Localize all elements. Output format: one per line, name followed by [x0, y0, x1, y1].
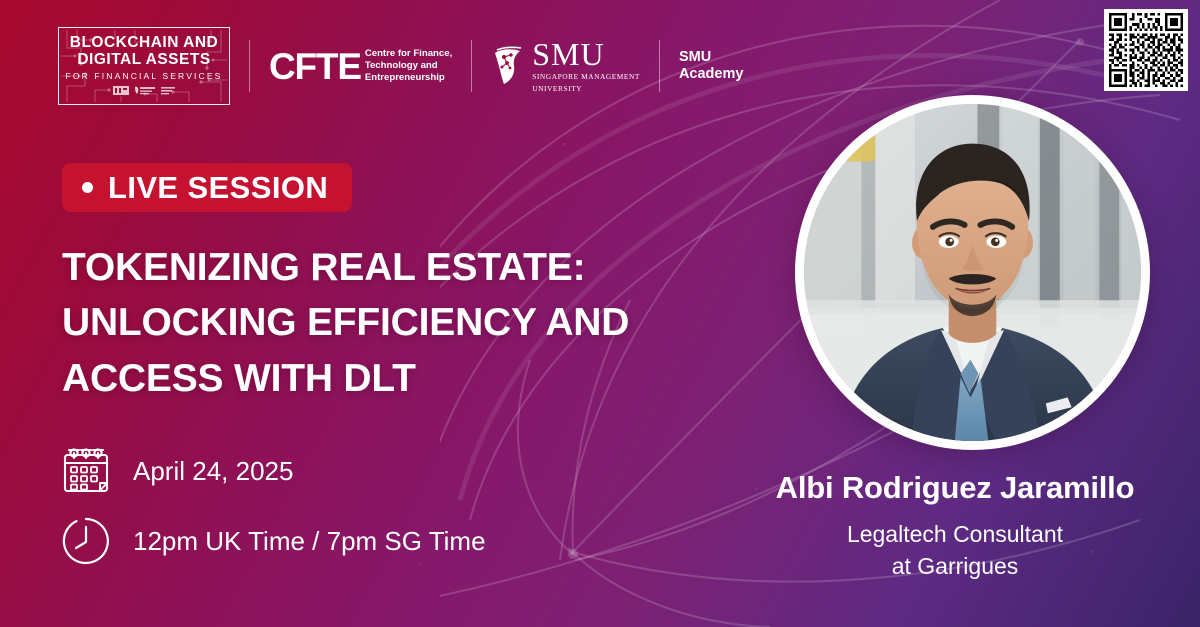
smu-subtitle-line2: UNIVERSITY [532, 84, 640, 93]
smu-crest-icon [491, 46, 525, 86]
qr-code[interactable] [1104, 9, 1188, 91]
live-session-label: LIVE SESSION [108, 172, 328, 203]
live-dot-icon [82, 182, 93, 193]
cfte-tagline-line3: Entrepreneurship [365, 72, 452, 84]
webinar-promo-banner: BLOCKCHAIN AND DIGITAL ASSETS FOR FINANC… [0, 0, 1200, 627]
cfte-tagline-line1: Centre for Finance, [365, 48, 452, 60]
event-details: April 24, 2025 12pm UK Time / 7pm SG Tim… [60, 444, 486, 568]
qr-code-icon [1108, 13, 1184, 87]
speaker-role-line1: Legaltech Consultant [720, 518, 1190, 551]
title-line-2: UNLOCKING EFFICIENCY AND [62, 295, 762, 350]
cfte-tagline-line2: Technology and [365, 60, 452, 72]
speaker-info: Albi Rodriguez Jaramillo Legaltech Consu… [720, 470, 1190, 583]
clock-icon [60, 515, 112, 567]
calendar-icon [60, 445, 112, 497]
smu-logo: SMU SINGAPORE MANAGEMENT UNIVERSITY SMU … [491, 38, 743, 94]
smu-academy-block: SMU Academy [679, 49, 743, 84]
event-time: 12pm UK Time / 7pm SG Time [133, 528, 486, 554]
cfte-tagline: Centre for Finance, Technology and Entre… [365, 48, 452, 83]
speaker-role-line2: at Garrigues [720, 550, 1190, 583]
smu-text-block: SMU SINGAPORE MANAGEMENT UNIVERSITY [532, 39, 640, 93]
blockchain-digital-assets-logo: BLOCKCHAIN AND DIGITAL ASSETS FOR FINANC… [58, 27, 230, 105]
logo-divider-1 [249, 40, 250, 92]
live-session-badge: LIVE SESSION [62, 163, 352, 212]
partner-mark-3 [161, 86, 175, 95]
speaker-name: Albi Rodriguez Jaramillo [720, 470, 1190, 507]
event-date: April 24, 2025 [133, 458, 293, 484]
logo-divider-3 [659, 40, 660, 92]
bda-partner-marks [113, 86, 175, 95]
speaker-portrait-illustration [804, 104, 1141, 441]
partner-mark-2 [134, 86, 156, 95]
cfte-logo: CFTE Centre for Finance, Technology and … [269, 42, 452, 90]
partner-mark-1 [113, 86, 129, 95]
smu-subtitle-line1: SINGAPORE MANAGEMENT [532, 72, 640, 81]
speaker-role: Legaltech Consultant at Garrigues [720, 518, 1190, 583]
page-title: TOKENIZING REAL ESTATE: UNLOCKING EFFICI… [62, 240, 762, 406]
title-line-1: TOKENIZING REAL ESTATE: [62, 240, 762, 295]
logo-divider-2 [471, 40, 472, 92]
smu-academy-line1: SMU [679, 49, 743, 66]
logo-bar: BLOCKCHAIN AND DIGITAL ASSETS FOR FINANC… [58, 27, 743, 105]
smu-academy-line2: Academy [679, 66, 743, 83]
cfte-wordmark: CFTE [269, 48, 361, 85]
event-date-row: April 24, 2025 [60, 444, 486, 498]
avatar [804, 104, 1141, 441]
event-time-row: 12pm UK Time / 7pm SG Time [60, 514, 486, 568]
title-line-3: ACCESS WITH DLT [62, 351, 762, 406]
smu-wordmark: SMU [532, 39, 640, 70]
speaker-photo-frame [795, 95, 1150, 450]
